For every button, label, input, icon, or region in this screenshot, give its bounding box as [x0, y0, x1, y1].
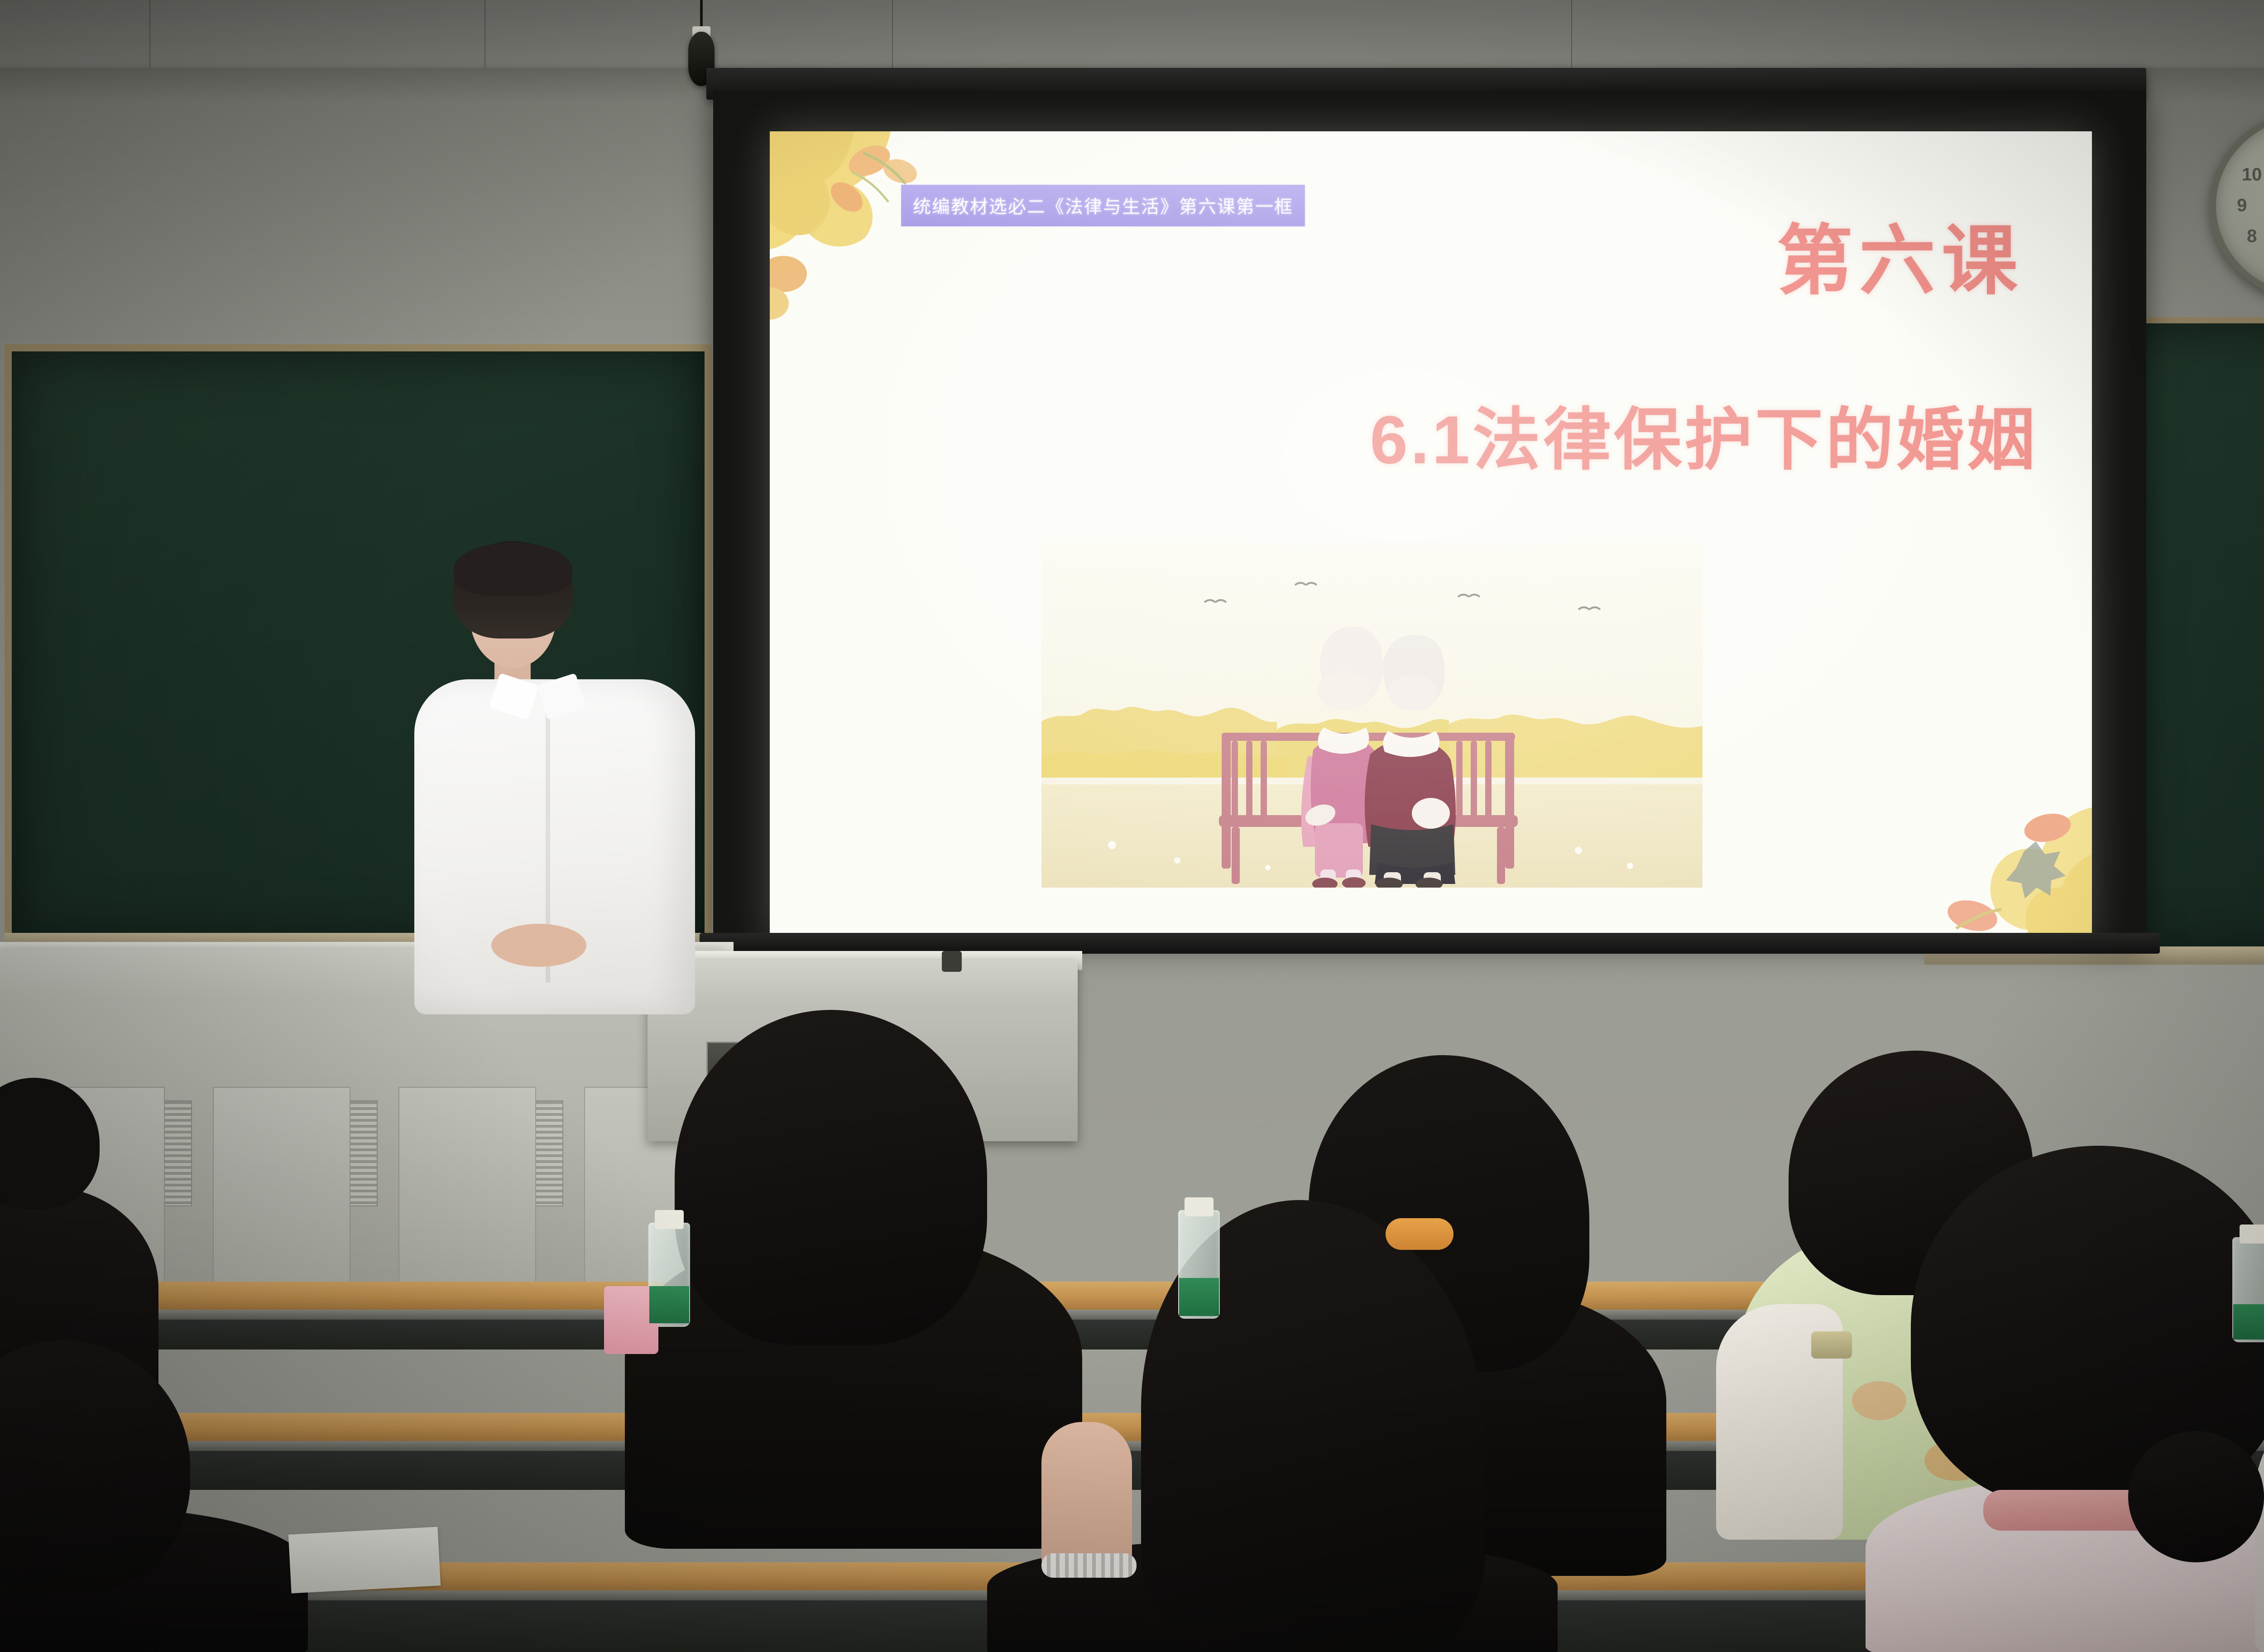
student-hair — [675, 1010, 987, 1345]
ceiling-panel — [0, 0, 150, 68]
bottle-label — [649, 1286, 689, 1323]
beaded-bracelet — [1041, 1553, 1137, 1578]
ceiling-panel — [149, 0, 485, 68]
student-hand — [1041, 1422, 1132, 1571]
hair-tie — [1386, 1218, 1453, 1250]
bottle-cap[interactable] — [655, 1210, 684, 1229]
blouse-floral-pattern — [1852, 1381, 1906, 1420]
elderly-couple-on-bench-illustration — [1041, 543, 1703, 888]
slide-source-banner: 统编教材选必二《法律与生活》第六课第一框 — [901, 185, 1305, 226]
teacher-hands — [491, 924, 586, 967]
presentation-slide: 统编教材选必二《法律与生活》第六课第一框 第六课 6.1法律保护下的婚姻 — [770, 131, 2092, 942]
ceiling-panel — [892, 0, 1572, 68]
classroom-photograph: 12 1 2 3 4 5 6 7 8 9 10 11 — [0, 0, 2264, 1652]
hair-bun — [2128, 1431, 2264, 1562]
slide-subtitle: 6.1法律保护下的婚姻 — [1370, 385, 2038, 483]
slide-title: 第六课 — [1777, 199, 2024, 309]
paper-sheet[interactable] — [288, 1527, 441, 1593]
bottle-cap[interactable] — [1185, 1197, 1214, 1216]
autumn-leaves-icon — [1888, 738, 2092, 942]
bottle-cap[interactable] — [2240, 1225, 2264, 1244]
teacher-fringe — [454, 543, 572, 596]
podium-door[interactable] — [213, 1087, 350, 1283]
illustration-figures — [1041, 543, 1703, 888]
projector-knob[interactable] — [942, 951, 962, 972]
bottle-label — [1179, 1278, 1219, 1316]
clock-numeral: 8 — [2247, 226, 2257, 247]
ceiling-panel — [1571, 0, 2264, 68]
bottle-label — [2233, 1304, 2264, 1340]
wristwatch — [1811, 1331, 1852, 1359]
clock-numeral: 9 — [2237, 196, 2247, 216]
autumn-leaves-icon — [770, 131, 992, 353]
clock-numeral: 10 — [2242, 165, 2262, 185]
podium-door[interactable] — [398, 1087, 536, 1283]
